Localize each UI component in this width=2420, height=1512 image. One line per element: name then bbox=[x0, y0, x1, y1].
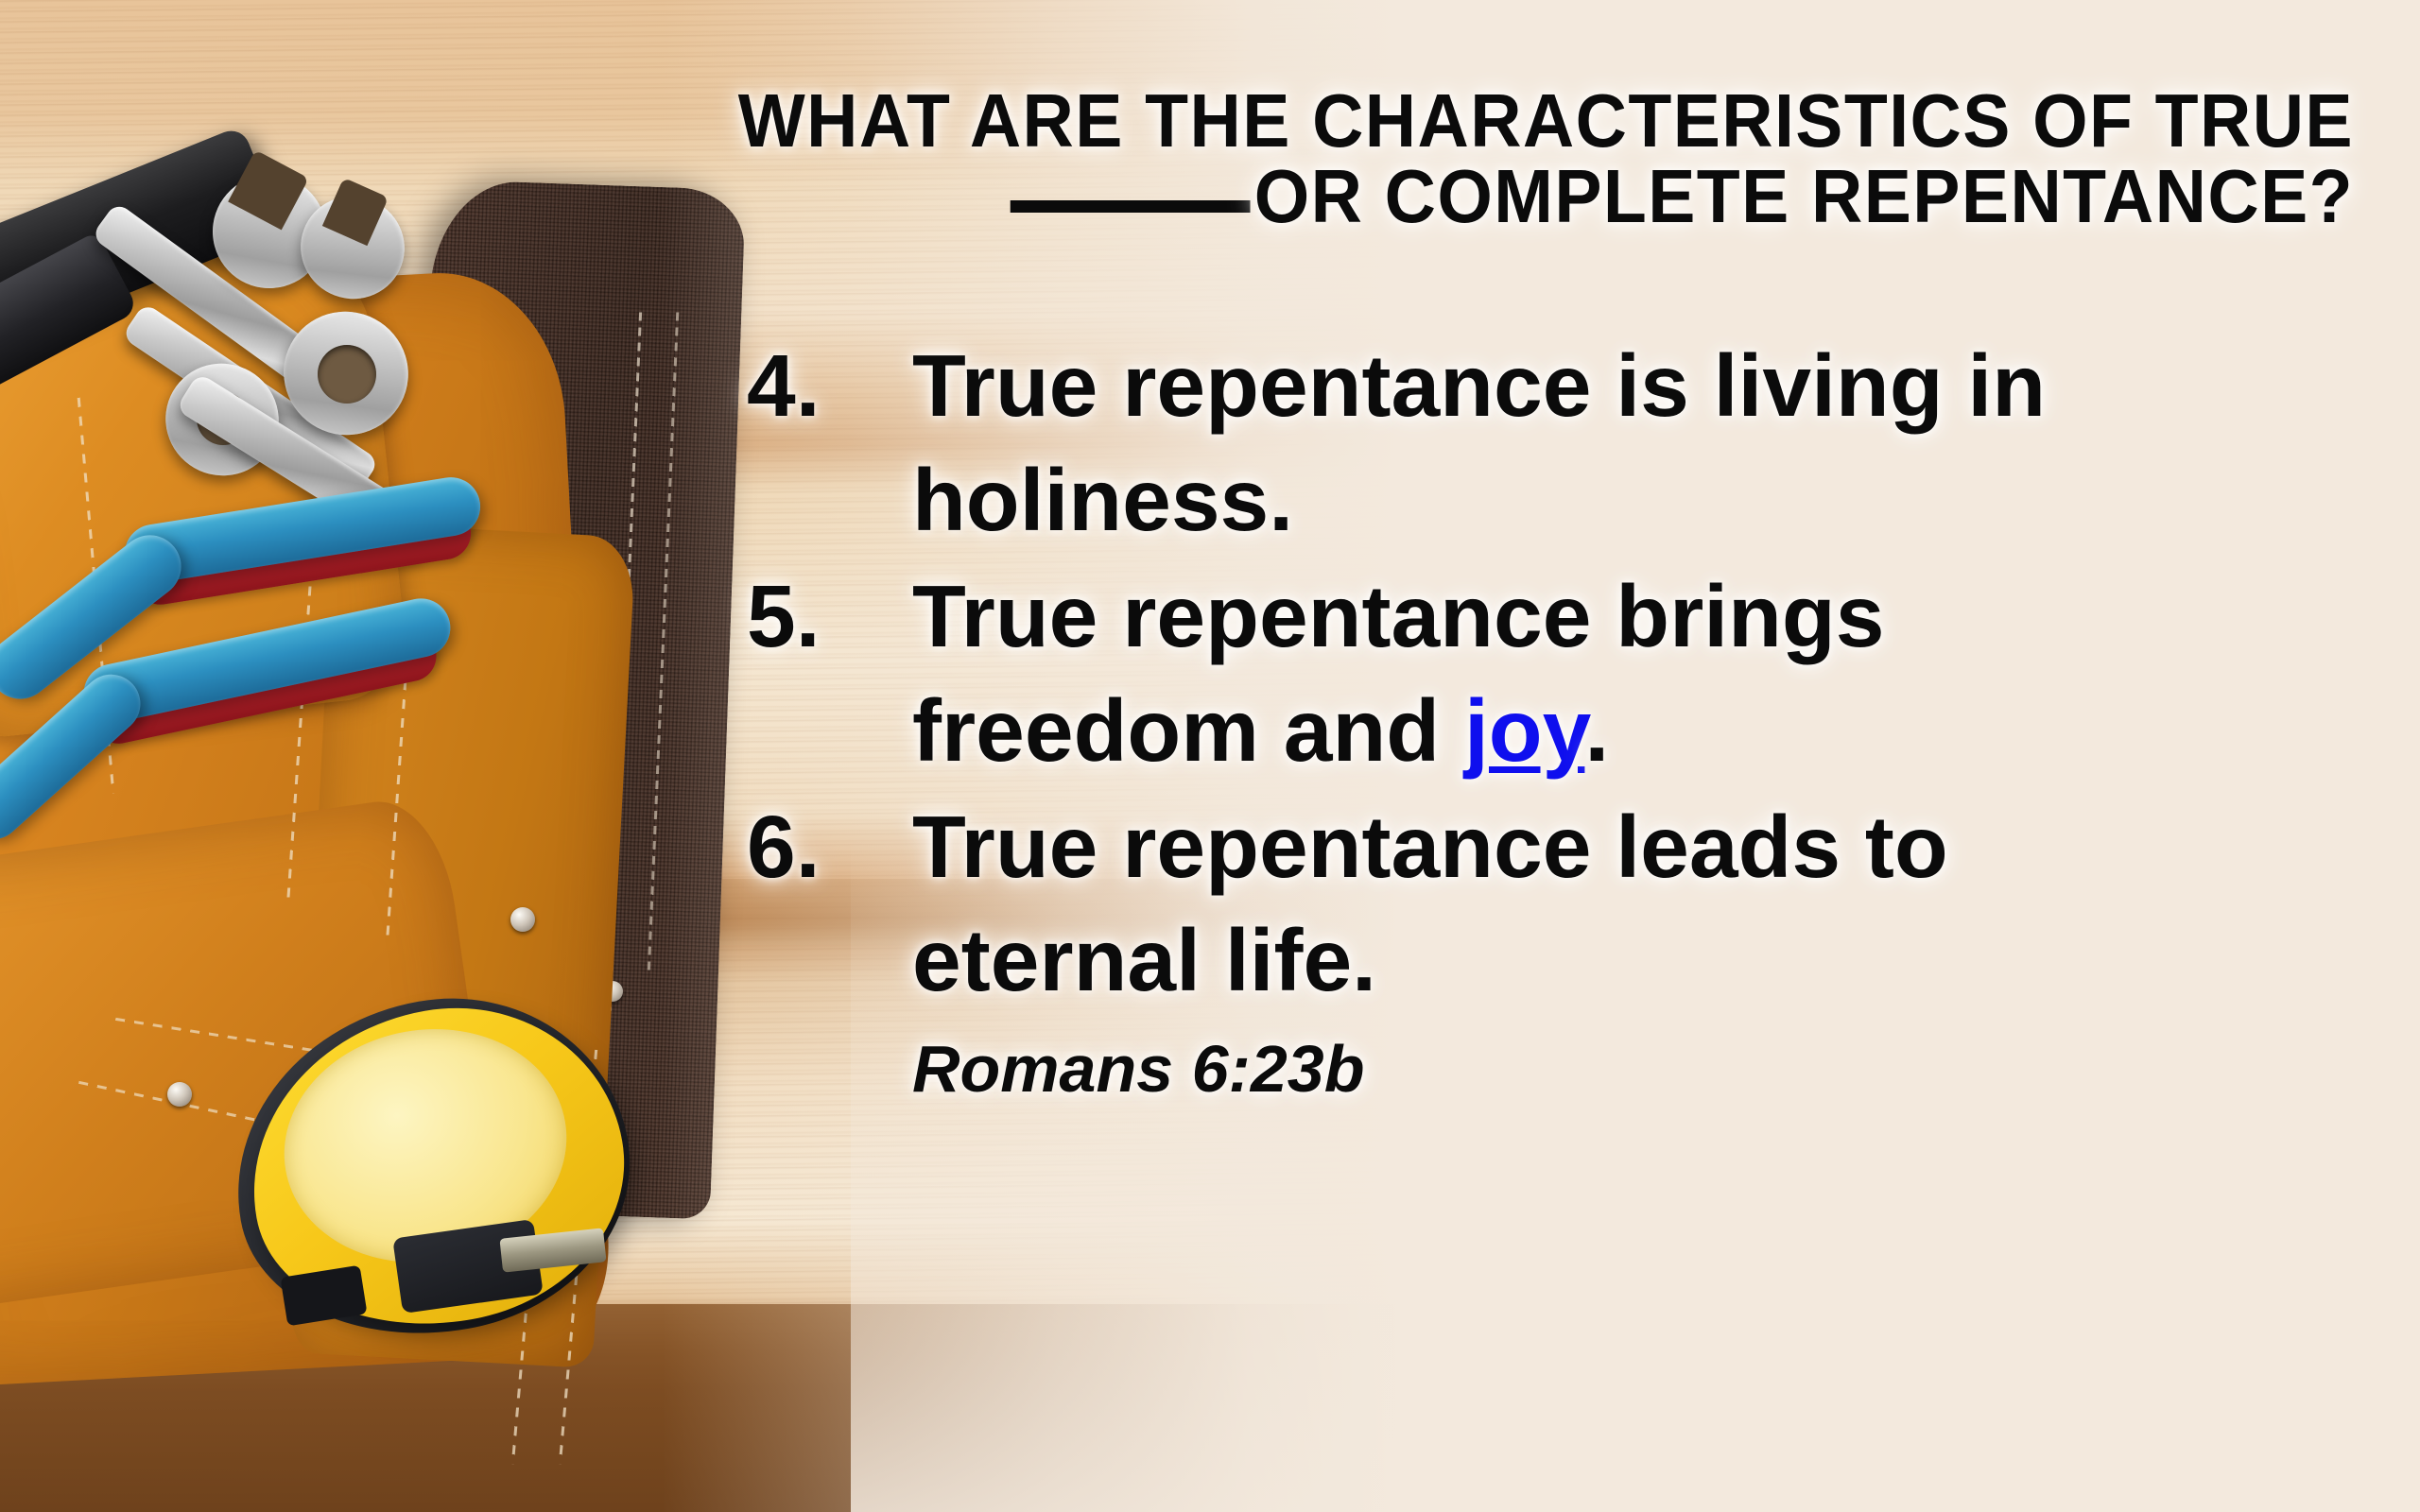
highlighted-word-joy: joy bbox=[1464, 681, 1584, 780]
list-item-text-after: . bbox=[1584, 681, 1609, 780]
list-item-number: 4. bbox=[747, 329, 912, 443]
list-item: 4. True repentance is living in holiness… bbox=[747, 329, 2221, 558]
list-item-text: True repentance is living in holiness. bbox=[912, 329, 2221, 558]
list-item-number: 5. bbox=[747, 559, 912, 674]
list-item: 5. True repentance brings freedom and jo… bbox=[747, 559, 2221, 788]
slide-title-line-2-text: OR COMPLETE REPENTANCE? bbox=[1254, 154, 2354, 238]
list-item-number: 6. bbox=[747, 790, 912, 904]
scripture-reference: Romans 6:23b bbox=[912, 1031, 2221, 1107]
list-item-text-before: True repentance brings freedom and bbox=[912, 567, 1884, 780]
list-item: 6. True repentance leads to eternal life… bbox=[747, 790, 2221, 1019]
slide-title-line-2: OR COMPLETE REPENTANCE? bbox=[559, 159, 2354, 234]
fill-in-blank bbox=[1011, 200, 1251, 213]
slide-title: WHAT ARE THE CHARACTERISTICS OF TRUE OR … bbox=[444, 83, 2354, 234]
slide-title-line-1: WHAT ARE THE CHARACTERISTICS OF TRUE bbox=[559, 83, 2354, 159]
list-item-text: True repentance leads to eternal life. bbox=[912, 790, 2221, 1019]
list-item-text: True repentance brings freedom and joy. bbox=[912, 559, 2221, 788]
presentation-slide: WHAT ARE THE CHARACTERISTICS OF TRUE OR … bbox=[0, 0, 2420, 1512]
slide-body: 4. True repentance is living in holiness… bbox=[747, 329, 2221, 1107]
